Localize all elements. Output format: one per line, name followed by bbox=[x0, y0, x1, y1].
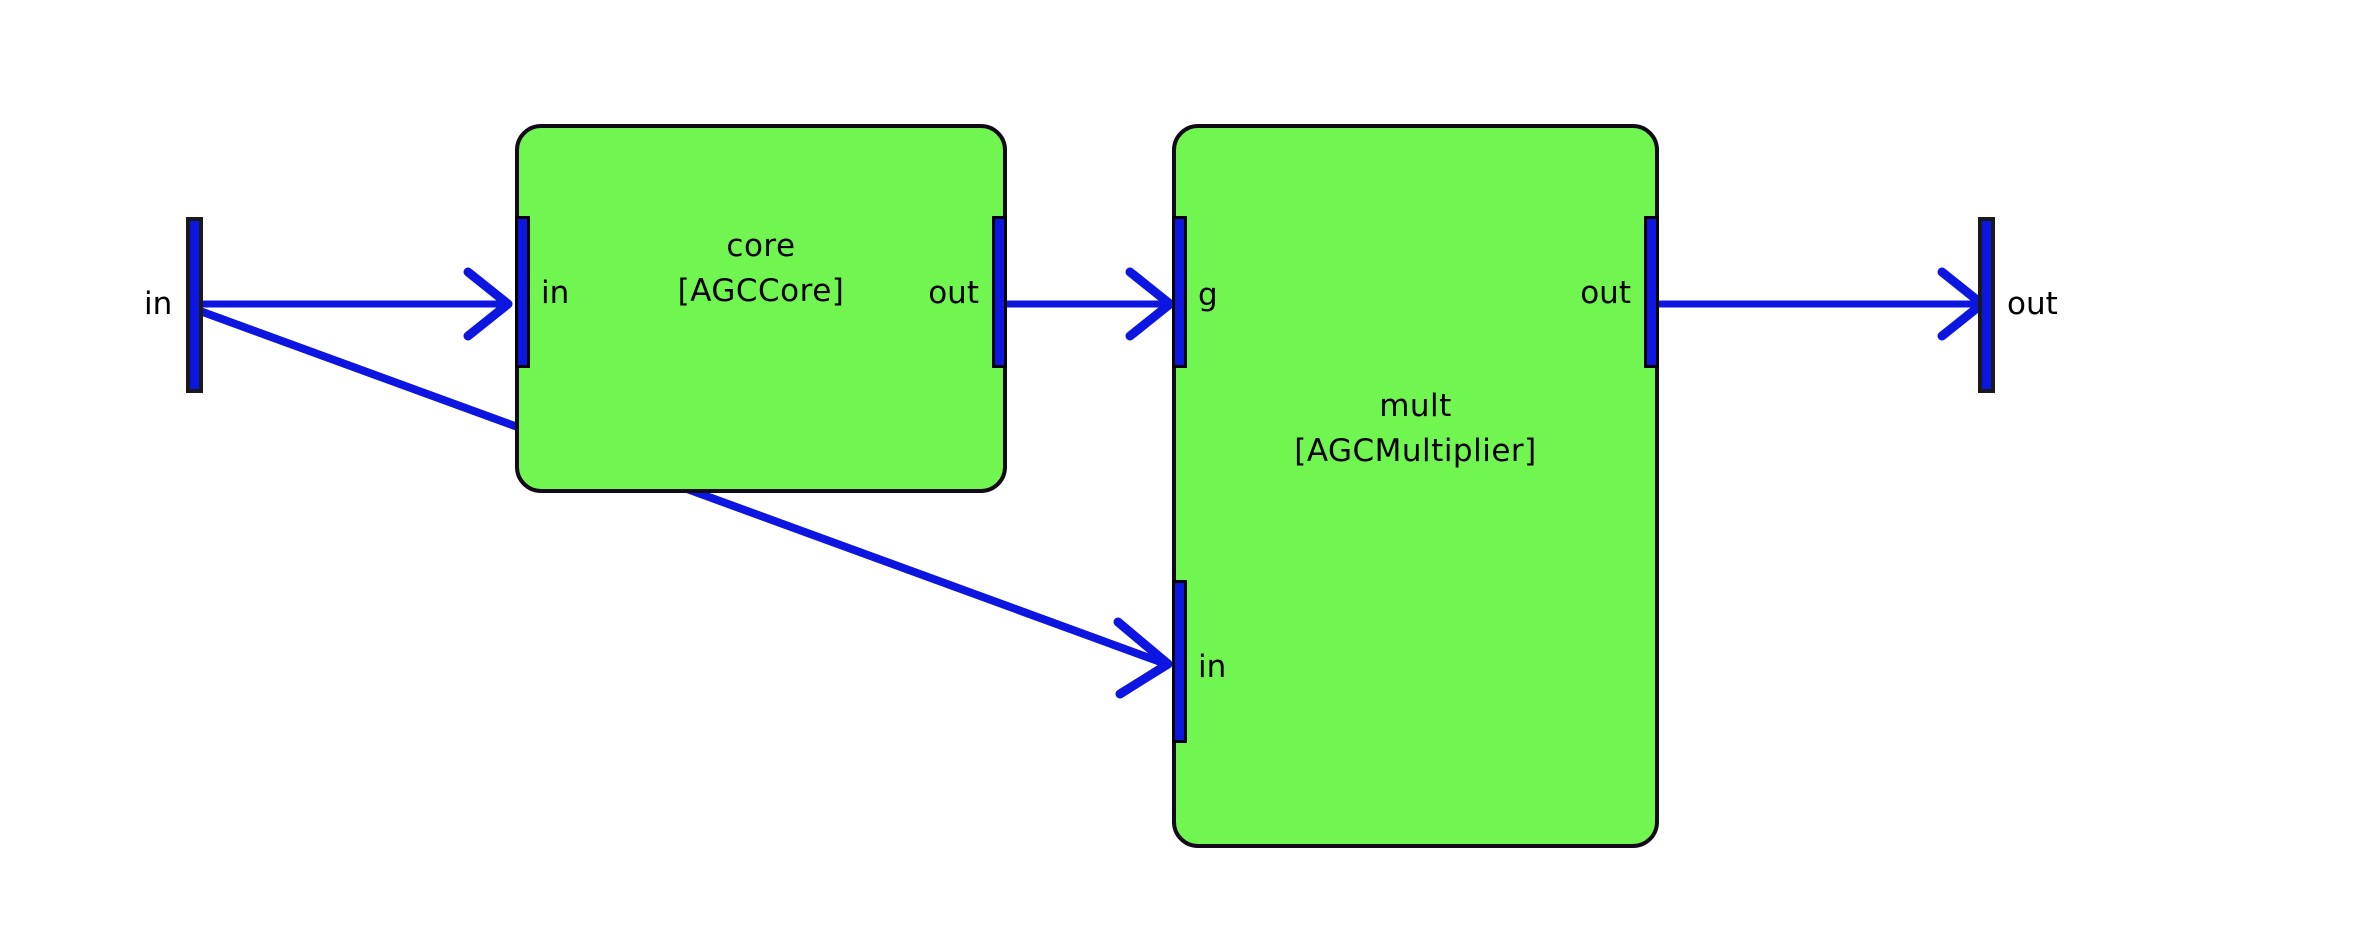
wire-in-to-core-in[interactable] bbox=[200, 272, 508, 336]
block-mult-name: mult bbox=[1176, 386, 1655, 426]
port-mult-in[interactable] bbox=[1172, 580, 1187, 743]
block-core[interactable]: core [AGCCore] in out bbox=[515, 124, 1007, 493]
port-core-out[interactable] bbox=[992, 216, 1007, 368]
port-mult-out-label: out bbox=[1580, 278, 1631, 309]
port-core-in-label: in bbox=[541, 278, 569, 309]
block-mult-type: [AGCMultiplier] bbox=[1176, 431, 1655, 471]
port-mult-g[interactable] bbox=[1172, 216, 1187, 368]
port-mult-g-label: g bbox=[1198, 280, 1218, 311]
terminal-in-label: in bbox=[144, 289, 172, 320]
terminal-in[interactable] bbox=[186, 217, 203, 393]
wire-mult-out-to-out[interactable] bbox=[1655, 272, 1982, 336]
diagram-canvas: core [AGCCore] in out mult [AGCMultiplie… bbox=[0, 0, 2362, 946]
terminal-out-label: out bbox=[2007, 289, 2058, 320]
block-mult[interactable]: mult [AGCMultiplier] g in out bbox=[1172, 124, 1659, 848]
wire-core-out-to-mult-g[interactable] bbox=[1003, 272, 1170, 336]
port-mult-out[interactable] bbox=[1644, 216, 1659, 368]
terminal-out[interactable] bbox=[1978, 217, 1995, 393]
block-core-name: core bbox=[519, 226, 1003, 266]
port-core-out-label: out bbox=[928, 278, 979, 309]
port-mult-in-label: in bbox=[1198, 652, 1226, 683]
port-core-in[interactable] bbox=[515, 216, 530, 368]
